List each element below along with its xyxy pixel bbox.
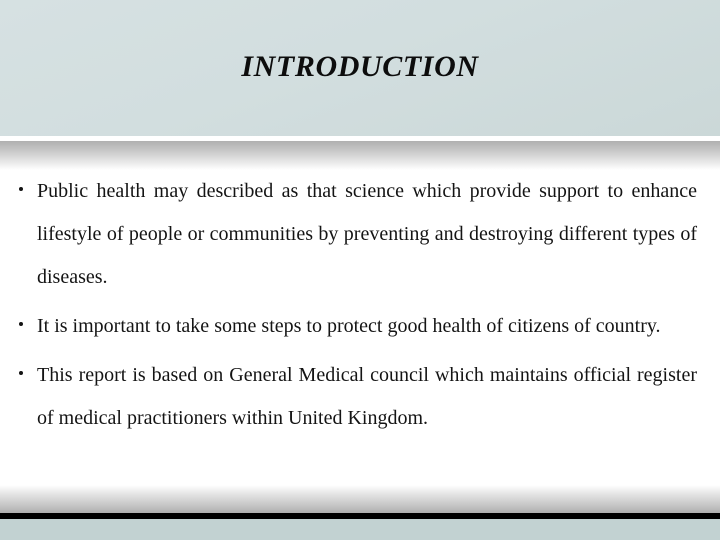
footer-shadow-gradient (0, 485, 720, 513)
bullet-list: Public health may described as that scie… (0, 170, 720, 440)
slide-header-band: INTRODUCTION (0, 0, 720, 136)
list-item: This report is based on General Medical … (0, 354, 720, 440)
slide-content-area: Public health may described as that scie… (0, 170, 720, 485)
presentation-slide: INTRODUCTION Public health may described… (0, 0, 720, 540)
bullet-text: It is important to take some steps to pr… (37, 315, 661, 337)
list-item: It is important to take some steps to pr… (0, 305, 720, 348)
list-item: Public health may described as that scie… (0, 170, 720, 299)
bullet-text: This report is based on General Medical … (37, 364, 697, 429)
slide-footer-band: fppt.com (0, 519, 720, 540)
bullet-text: Public health may described as that scie… (37, 180, 697, 288)
header-shadow-gradient (0, 141, 720, 170)
page-title: INTRODUCTION (0, 50, 720, 84)
